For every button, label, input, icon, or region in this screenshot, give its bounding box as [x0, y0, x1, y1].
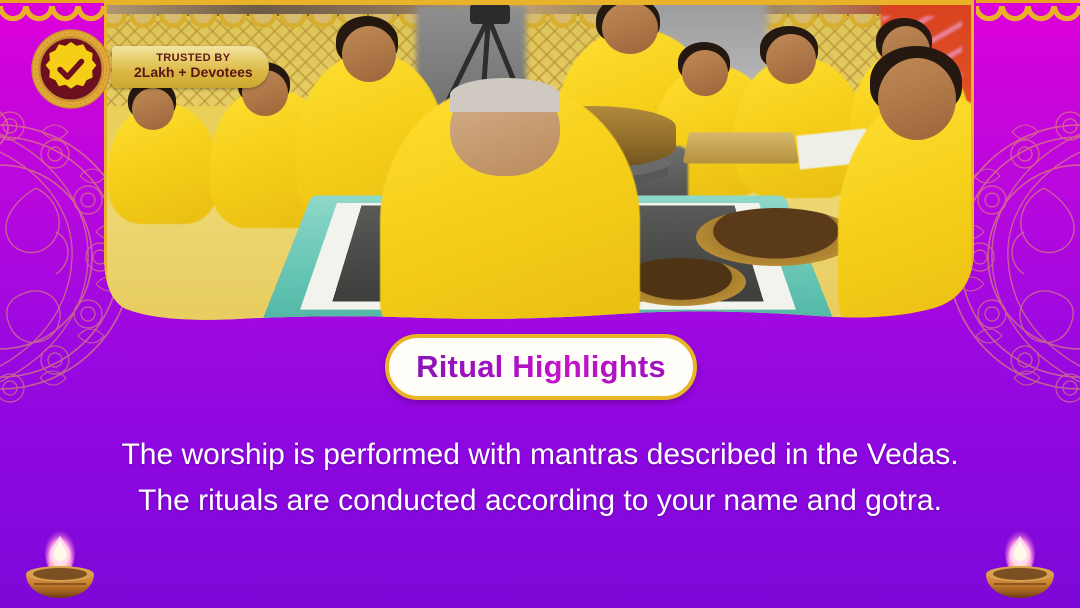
- description-line-1: The worship is performed with mantras de…: [0, 432, 1080, 478]
- trusted-by-label: TRUSTED BY: [156, 52, 230, 65]
- trusted-by-ribbon: TRUSTED BY 2Lakh + Devotees: [112, 46, 269, 88]
- poster-canvas: TRUSTED BY 2Lakh + Devotees Ritual Highl…: [0, 0, 1080, 608]
- page-title: Ritual Highlights: [416, 349, 666, 385]
- diya-lamp-icon-right: [974, 530, 1066, 604]
- devotee-count-label: 2Lakh + Devotees: [134, 64, 253, 81]
- torana-scallop-right: [976, 0, 1080, 38]
- section-title-pill: Ritual Highlights: [385, 334, 697, 400]
- description-line-2: The rituals are conducted according to y…: [0, 478, 1080, 524]
- description-block: The worship is performed with mantras de…: [0, 432, 1080, 524]
- diya-lamp-icon-left: [14, 530, 106, 604]
- verified-check-badge-icon: [30, 28, 112, 110]
